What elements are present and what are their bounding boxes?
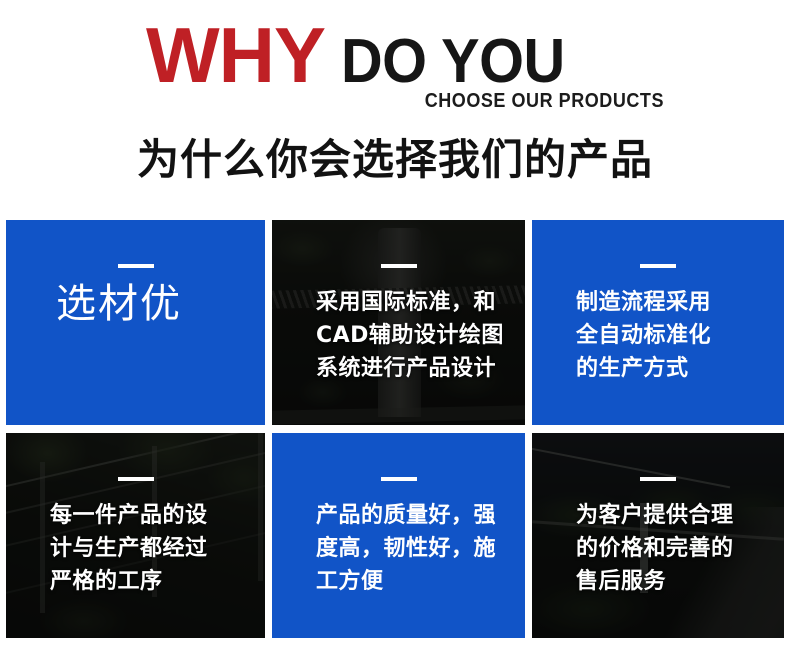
feature-card-line: 严格的工序 bbox=[50, 565, 251, 598]
feature-card-line: 的生产方式 bbox=[576, 352, 770, 385]
feature-card-text: 制造流程采用 全自动标准化 的生产方式 bbox=[532, 286, 784, 385]
feature-card-line: 为客户提供合理 bbox=[576, 499, 770, 532]
feature-card-strict-process[interactable]: 每一件产品的设 计与生产都经过 严格的工序 bbox=[6, 433, 265, 638]
feature-card-line: 制造流程采用 bbox=[576, 286, 770, 319]
feature-card-international-standard[interactable]: 采用国际标准，和 CAD辅助设计绘图 系统进行产品设计 bbox=[272, 220, 525, 425]
feature-card-text: 为客户提供合理 的价格和完善的 售后服务 bbox=[532, 499, 784, 598]
feature-card-line: 全自动标准化 bbox=[576, 319, 770, 352]
headline-do-you: DO YOU bbox=[341, 31, 565, 93]
feature-card-line: 每一件产品的设 bbox=[50, 499, 251, 532]
divider-dash-icon bbox=[118, 477, 154, 481]
feature-card-line: CAD辅助设计绘图 bbox=[316, 319, 511, 352]
divider-dash-icon bbox=[640, 477, 676, 481]
feature-card-text: 产品的质量好，强 度高，韧性好，施 工方便 bbox=[272, 499, 525, 598]
tagline-english: CHOOSE OUR PRODUCTS bbox=[66, 90, 664, 113]
feature-grid: 选材优 采用国际标准，和 CAD辅助设计绘图 系统进行产品设计 制造流程采用 全… bbox=[6, 220, 784, 640]
divider-dash-icon bbox=[381, 264, 417, 268]
divider-dash-icon bbox=[381, 477, 417, 481]
headline: WHY DO YOU bbox=[0, 16, 790, 98]
feature-card-line: 产品的质量好，强 bbox=[316, 499, 511, 532]
headline-words: WHY DO YOU bbox=[146, 16, 581, 94]
promotional-banner: WHY DO YOU CHOOSE OUR PRODUCTS 为什么你会选择我们… bbox=[0, 0, 790, 665]
feature-card-text: 选材优 bbox=[6, 278, 265, 330]
feature-card-after-sales-service[interactable]: 为客户提供合理 的价格和完善的 售后服务 bbox=[532, 433, 784, 638]
divider-dash-icon bbox=[640, 264, 676, 268]
feature-card-line: 采用国际标准，和 bbox=[316, 286, 511, 319]
feature-card-text: 采用国际标准，和 CAD辅助设计绘图 系统进行产品设计 bbox=[272, 286, 525, 385]
feature-card-product-quality[interactable]: 产品的质量好，强 度高，韧性好，施 工方便 bbox=[272, 433, 525, 638]
feature-card-line: 工方便 bbox=[316, 565, 511, 598]
feature-card-line: 售后服务 bbox=[576, 565, 770, 598]
tagline-chinese: 为什么你会选择我们的产品 bbox=[0, 126, 790, 187]
headline-why: WHY bbox=[146, 16, 325, 94]
feature-card-automated-production[interactable]: 制造流程采用 全自动标准化 的生产方式 bbox=[532, 220, 784, 425]
feature-card-line: 度高，韧性好，施 bbox=[316, 532, 511, 565]
divider-dash-icon bbox=[118, 264, 154, 268]
feature-card-line: 系统进行产品设计 bbox=[316, 352, 511, 385]
feature-card-text: 每一件产品的设 计与生产都经过 严格的工序 bbox=[6, 499, 265, 598]
feature-card-line: 的价格和完善的 bbox=[576, 532, 770, 565]
feature-card-line: 计与生产都经过 bbox=[50, 532, 251, 565]
header: WHY DO YOU CHOOSE OUR PRODUCTS 为什么你会选择我们… bbox=[0, 0, 790, 218]
feature-card-material-quality[interactable]: 选材优 bbox=[6, 220, 265, 425]
